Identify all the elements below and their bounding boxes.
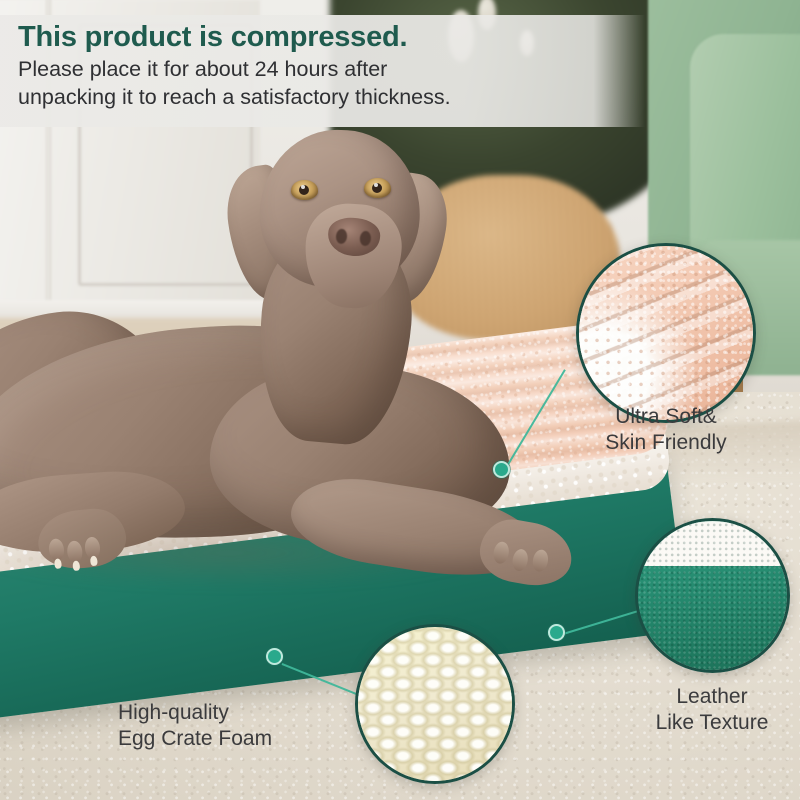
marker-dot-foam[interactable] xyxy=(266,648,283,665)
callout-circle-ultra-soft xyxy=(576,243,756,423)
callout-label-line-1: Ultra Soft& xyxy=(566,404,766,430)
banner-body-line-2: unpacking it to reach a satisfactory thi… xyxy=(18,83,645,111)
compression-notice-banner: This product is compressed. Please place… xyxy=(0,15,645,127)
product-feature-image: This product is compressed. Please place… xyxy=(0,0,800,800)
marker-dot-ultra-soft[interactable] xyxy=(493,461,510,478)
dog-left-eye xyxy=(291,180,318,200)
leather-texture-swatch xyxy=(638,521,787,670)
callout-label-ultra-soft: Ultra Soft& Skin Friendly xyxy=(566,404,766,457)
callout-label-leather: Leather Like Texture xyxy=(622,684,800,737)
callout-label-line-2: Egg Crate Foam xyxy=(118,726,358,752)
callout-circle-leather xyxy=(635,518,790,673)
egg-crate-foam-swatch xyxy=(358,627,512,781)
banner-body-line-1: Please place it for about 24 hours after xyxy=(18,55,645,83)
callout-circle-foam xyxy=(355,624,515,784)
callout-label-line-1: Leather xyxy=(622,684,800,710)
marker-dot-leather[interactable] xyxy=(548,624,565,641)
dog-right-eye xyxy=(364,178,391,198)
callout-label-line-2: Like Texture xyxy=(622,710,800,736)
callout-label-foam: High-quality Egg Crate Foam xyxy=(118,700,358,753)
plush-fur-swatch xyxy=(579,246,753,420)
callout-label-line-1: High-quality xyxy=(118,700,358,726)
weimaraner-dog xyxy=(0,118,600,618)
banner-title: This product is compressed. xyxy=(18,21,645,55)
callout-label-line-2: Skin Friendly xyxy=(566,430,766,456)
